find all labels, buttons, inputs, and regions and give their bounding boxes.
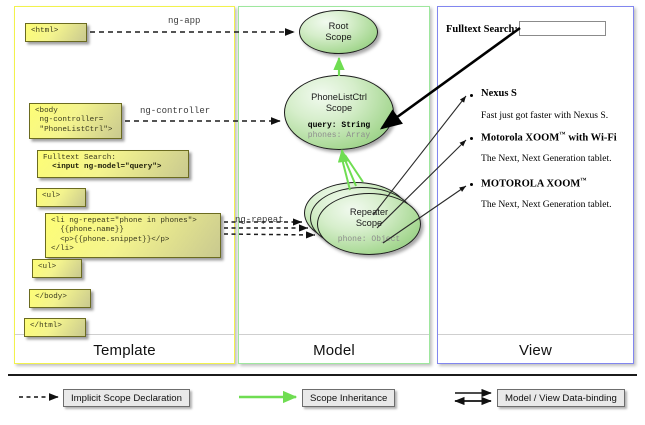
scope-root-line2: Scope bbox=[300, 32, 377, 43]
scope-phonelistctrl-line2: Scope bbox=[285, 103, 393, 114]
panel-template: Template bbox=[14, 6, 235, 364]
view-phone-name-text-2: MOTOROLA XOOM bbox=[481, 179, 580, 190]
scope-repeater-prop-phone: phone: Object bbox=[318, 235, 420, 245]
scope-repeater-line1: Repeater bbox=[318, 207, 420, 218]
view-phone-name-0: Nexus S bbox=[481, 88, 517, 99]
code-box-search-input: Fulltext Search: <input ng-model="query"… bbox=[37, 150, 189, 178]
view-phone-suffix-1: with Wi-Fi bbox=[566, 133, 617, 144]
scope-repeater: Repeater Scope phone: Object bbox=[317, 193, 421, 255]
code-box-li-repeat: <li ng-repeat="phone in phones"> {{phone… bbox=[45, 213, 221, 258]
scope-phonelistctrl-prop-phones: phones: Array bbox=[285, 131, 393, 141]
legend-label-scope-inheritance: Scope Inheritance bbox=[302, 389, 395, 407]
legend-label-implicit-scope-declaration: Implicit Scope Declaration bbox=[63, 389, 190, 407]
scope-phonelistctrl: PhoneListCtrl Scope query: String phones… bbox=[284, 75, 394, 150]
panel-view-divider bbox=[438, 334, 633, 335]
code-box-search-line1: Fulltext Search: bbox=[43, 154, 116, 162]
scope-root-line1: Root bbox=[300, 21, 377, 32]
legend-label-model-view-data-binding: Model / View Data-binding bbox=[497, 389, 625, 407]
legend-divider bbox=[8, 374, 637, 376]
arrow-label-ng-app: ng-app bbox=[168, 16, 200, 26]
view-phone-name-1: Motorola XOOM™ with Wi-Fi bbox=[481, 131, 617, 144]
code-box-ul-open: <ul> bbox=[36, 188, 86, 207]
scope-prop-phones-text: phones: Array bbox=[308, 131, 370, 140]
search-input[interactable] bbox=[519, 21, 606, 36]
view-search-label: Fulltext Search: bbox=[446, 24, 518, 35]
legend-glyph-model-view-data-binding bbox=[455, 393, 491, 401]
code-box-search-line2: <input ng-model="query"> bbox=[43, 163, 161, 171]
panel-model-label: Model bbox=[239, 342, 429, 359]
view-phone-snippet-2: The Next, Next Generation tablet. bbox=[481, 199, 612, 210]
view-phone-name-text-1: Motorola XOOM bbox=[481, 133, 559, 144]
view-phone-snippet-0: Fast just got faster with Nexus S. bbox=[481, 110, 608, 121]
code-box-body-open: <body ng-controller= "PhoneListCtrl"> bbox=[29, 103, 122, 139]
diagram-canvas: Template Model View <html> <body ng-cont… bbox=[0, 0, 645, 425]
code-box-html-open: <html> bbox=[25, 23, 87, 42]
panel-template-label: Template bbox=[15, 342, 234, 359]
panel-view-label: View bbox=[438, 342, 633, 359]
scope-prop-query-text: query: String bbox=[308, 121, 370, 130]
code-box-html-close: </html> bbox=[24, 318, 86, 337]
scope-repeater-line2: Scope bbox=[318, 218, 420, 229]
scope-prop-phone-text: phone: Object bbox=[338, 235, 400, 244]
view-phone-snippet-1: The Next, Next Generation tablet. bbox=[481, 153, 612, 164]
view-phone-name-text-0: Nexus S bbox=[481, 88, 517, 99]
code-box-ul-close: <ul> bbox=[32, 259, 82, 278]
code-box-body-close: </body> bbox=[29, 289, 91, 308]
view-phone-name-2: MOTOROLA XOOM™ bbox=[481, 177, 587, 190]
scope-root: Root Scope bbox=[299, 10, 378, 54]
panel-model-divider bbox=[239, 334, 429, 335]
scope-phonelistctrl-line1: PhoneListCtrl bbox=[285, 92, 393, 103]
arrow-label-ng-repeat: ng-repeat bbox=[235, 215, 284, 225]
arrow-label-ng-controller: ng-controller bbox=[140, 106, 210, 116]
scope-phonelistctrl-prop-query: query: String bbox=[285, 121, 393, 131]
trademark-icon-2: ™ bbox=[580, 177, 587, 184]
